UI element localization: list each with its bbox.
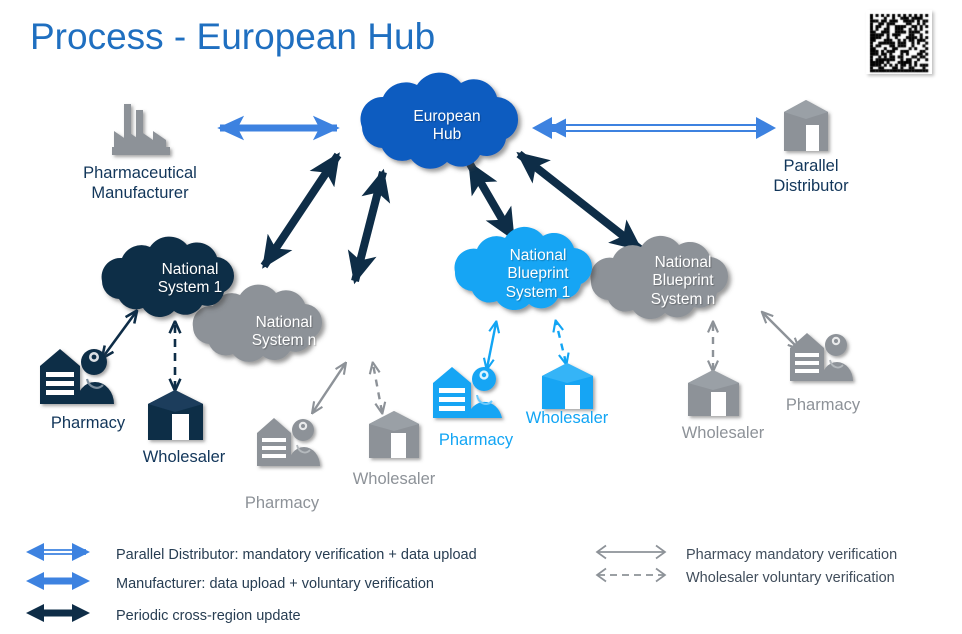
- label-wholesaler-navy: Wholesaler: [104, 448, 264, 468]
- connector-hub-to-blueprint-1: [470, 164, 513, 238]
- legend-periodic-update-text: Periodic cross-region update: [116, 608, 301, 624]
- legend-hollow-double-arrow-icon: [22, 541, 94, 568]
- connector-hub-to-national-system-n: [355, 172, 383, 281]
- label-parallel-distributor: Parallel Distributor: [736, 157, 886, 197]
- label-wholesaler-gray-2: Wholesaler: [643, 424, 803, 444]
- cloud-national-blueprint-system-n[interactable]: [591, 236, 729, 319]
- connector-nsn-pharmacy: [313, 364, 345, 412]
- label-pharmaceutical-manufacturer: Pharmaceutical Manufacturer: [40, 164, 240, 204]
- legend-pharmacy-verification: Pharmacy mandatory verification: [590, 543, 897, 566]
- warehouse-icon-gray-2: [688, 370, 739, 416]
- legend-solid-navy-arrow-icon: [22, 602, 94, 629]
- legend-solid-blue-arrow-icon: [22, 570, 94, 597]
- label-pharmacy-gray-2: Pharmacy: [743, 396, 903, 416]
- legend-wholesaler-verification-text: Wholesaler voluntary verification: [686, 570, 895, 586]
- warehouse-icon-parallel-distributor: [784, 100, 828, 151]
- datamatrix-code: [866, 10, 932, 74]
- slide-canvas: Process - European Hub European Hub Nati…: [0, 0, 962, 634]
- connector-bp1-wholesaler: [556, 322, 566, 363]
- connector-bpn-pharmacy: [763, 313, 798, 348]
- legend-manufacturer-text: Manufacturer: data upload + voluntary ve…: [116, 576, 434, 592]
- pharmacy-icon-gray-1: [257, 418, 320, 466]
- cloud-european-hub[interactable]: [360, 73, 518, 169]
- pharmacy-icon-navy: [40, 349, 114, 404]
- connector-bp1-pharmacy: [487, 323, 496, 368]
- cloud-national-blueprint-system-1[interactable]: [455, 227, 593, 310]
- legend-wholesaler-verification: Wholesaler voluntary verification: [590, 566, 895, 589]
- legend-manufacturer: Manufacturer: data upload + voluntary ve…: [22, 570, 434, 597]
- connector-ns1-pharmacy: [103, 312, 136, 357]
- warehouse-icon-cyan: [542, 363, 593, 409]
- legend-parallel-distributor: Parallel Distributor: mandatory verifica…: [22, 541, 477, 568]
- legend-parallel-distributor-text: Parallel Distributor: mandatory verifica…: [116, 547, 477, 563]
- pharmacy-icon-gray-2: [790, 333, 853, 381]
- connector-hub-to-parallel-distributor: [532, 117, 776, 139]
- legend-pharmacy-verification-text: Pharmacy mandatory verification: [686, 547, 897, 563]
- page-title: Process - European Hub: [30, 16, 435, 58]
- factory-icon: [112, 104, 170, 155]
- label-wholesaler-gray-1: Wholesaler: [324, 470, 464, 490]
- legend-thin-dashed-gray-arrow-icon: [590, 566, 672, 589]
- legend-periodic-update: Periodic cross-region update: [22, 602, 301, 629]
- label-pharmacy-cyan: Pharmacy: [406, 431, 546, 451]
- label-pharmacy-navy: Pharmacy: [8, 414, 168, 434]
- diagram-graphics: [0, 0, 962, 634]
- connector-hub-to-national-system-1: [264, 155, 338, 266]
- label-pharmacy-gray-1: Pharmacy: [212, 494, 352, 514]
- connector-nsn-wholesaler: [373, 364, 382, 412]
- legend-thin-solid-gray-arrow-icon: [590, 543, 672, 566]
